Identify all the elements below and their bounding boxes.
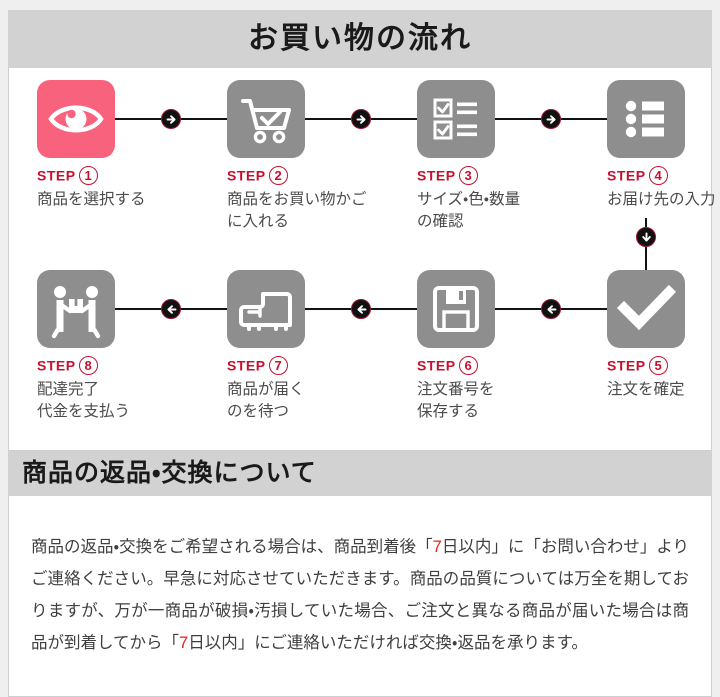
step-2-word: STEP (227, 168, 266, 184)
step-6-desc: 注文番号を 保存する (417, 379, 587, 424)
flow-panel: 1 STEP1 商品を選択する STEP2 商品をお買い物か (8, 68, 712, 451)
flow-row-2: STEP8 配達完了 代金を支払う STEP7 商品が届く のを待つ (9, 270, 711, 450)
step-6-word: STEP (417, 358, 456, 374)
shopping-cart-icon (227, 80, 305, 158)
flow-step-4[interactable]: STEP4 お届け先の入力 (607, 80, 720, 211)
step-4-number: 4 (649, 166, 668, 185)
arrow-down-icon (636, 227, 656, 247)
paragraph-run: 商品の返品・交換をご希望される場合は、商品到着後「 (31, 538, 433, 556)
arrow-right-icon-1 (161, 109, 181, 129)
step-3-label: STEP3 (417, 166, 587, 186)
eye-icon (37, 80, 115, 158)
returns-paragraph: 商品の返品・交換をご希望される場合は、商品到着後「7日以内」に「お問い合わせ」よ… (31, 531, 689, 660)
step-7-desc: 商品が届く のを待つ (227, 379, 397, 424)
paragraph-run: 日以内」にご連絡いただければ交換・返品を承ります。 (188, 634, 588, 652)
return-period-highlight: 7 (179, 634, 188, 652)
arrow-left-icon-1 (161, 299, 181, 319)
handover-icon (37, 270, 115, 348)
step-5-number: 5 (649, 356, 668, 375)
step-3-desc: サイズ・色・数量 の確認 (417, 189, 587, 234)
step-2-tile (227, 80, 305, 158)
arrow-left-icon-3 (541, 299, 561, 319)
step-1-tile (37, 80, 115, 158)
step-8-word: STEP (37, 358, 76, 374)
step-3-number: 3 (459, 166, 478, 185)
step-2-number: 2 (269, 166, 288, 185)
flow-step-1[interactable]: 1 STEP1 商品を選択する (37, 80, 207, 211)
step-3-word: STEP (417, 168, 456, 184)
step-8-label: STEP8 (37, 356, 207, 376)
step-4-tile (607, 80, 685, 158)
checklist-icon (417, 80, 495, 158)
arrow-right-icon-3 (541, 109, 561, 129)
step-2-desc: 商品をお買い物かご に入れる (227, 189, 397, 234)
step-8-tile (37, 270, 115, 348)
step-8-number: 8 (79, 356, 98, 375)
step-7-number: 7 (269, 356, 288, 375)
flow-step-8[interactable]: STEP8 配達完了 代金を支払う (37, 270, 207, 424)
flow-step-5[interactable]: STEP5 注文を確定 (607, 270, 720, 401)
step-6-number: 6 (459, 356, 478, 375)
returns-heading: 商品の返品・交換について (8, 451, 712, 496)
delivery-truck-icon (227, 270, 305, 348)
step-1-desc: 商品を選択する (37, 189, 207, 211)
step-7-label: STEP7 (227, 356, 397, 376)
step-5-desc: 注文を確定 (607, 379, 720, 401)
step-4-label: STEP4 (607, 166, 720, 186)
flow-step-2[interactable]: STEP2 商品をお買い物かご に入れる (227, 80, 397, 234)
floppy-disk-icon (417, 270, 495, 348)
arrow-left-icon-2 (351, 299, 371, 319)
returns-panel: 商品の返品・交換をご希望される場合は、商品到着後「7日以内」に「お問い合わせ」よ… (8, 496, 712, 697)
step-5-label: STEP5 (607, 356, 720, 376)
step-2-label: STEP2 (227, 166, 397, 186)
shopping-flow-page: お買い物の流れ 1 STEP1 商品を選択する (0, 0, 720, 672)
step-6-label: STEP6 (417, 356, 587, 376)
step-1-word: STEP (37, 168, 76, 184)
step-3-tile (417, 80, 495, 158)
step-6-tile (417, 270, 495, 348)
flow-step-3[interactable]: STEP3 サイズ・色・数量 の確認 (417, 80, 587, 234)
arrow-right-icon-2 (351, 109, 371, 129)
flow-step-7[interactable]: STEP7 商品が届く のを待つ (227, 270, 397, 424)
step-4-desc: お届け先の入力 (607, 189, 720, 211)
check-mark-icon (607, 270, 685, 348)
step-4-word: STEP (607, 168, 646, 184)
page-title: お買い物の流れ (8, 10, 712, 68)
return-period-highlight: 7 (433, 538, 442, 556)
step-1-label: 1 STEP1 (37, 166, 207, 186)
step-5-word: STEP (607, 358, 646, 374)
step-1-number: 1 (79, 166, 98, 185)
bullet-list-icon (607, 80, 685, 158)
step-8-desc: 配達完了 代金を支払う (37, 379, 207, 424)
flow-row-1: 1 STEP1 商品を選択する STEP2 商品をお買い物か (9, 80, 711, 260)
step-5-tile (607, 270, 685, 348)
step-7-word: STEP (227, 358, 266, 374)
flow-step-6[interactable]: STEP6 注文番号を 保存する (417, 270, 587, 424)
step-7-tile (227, 270, 305, 348)
